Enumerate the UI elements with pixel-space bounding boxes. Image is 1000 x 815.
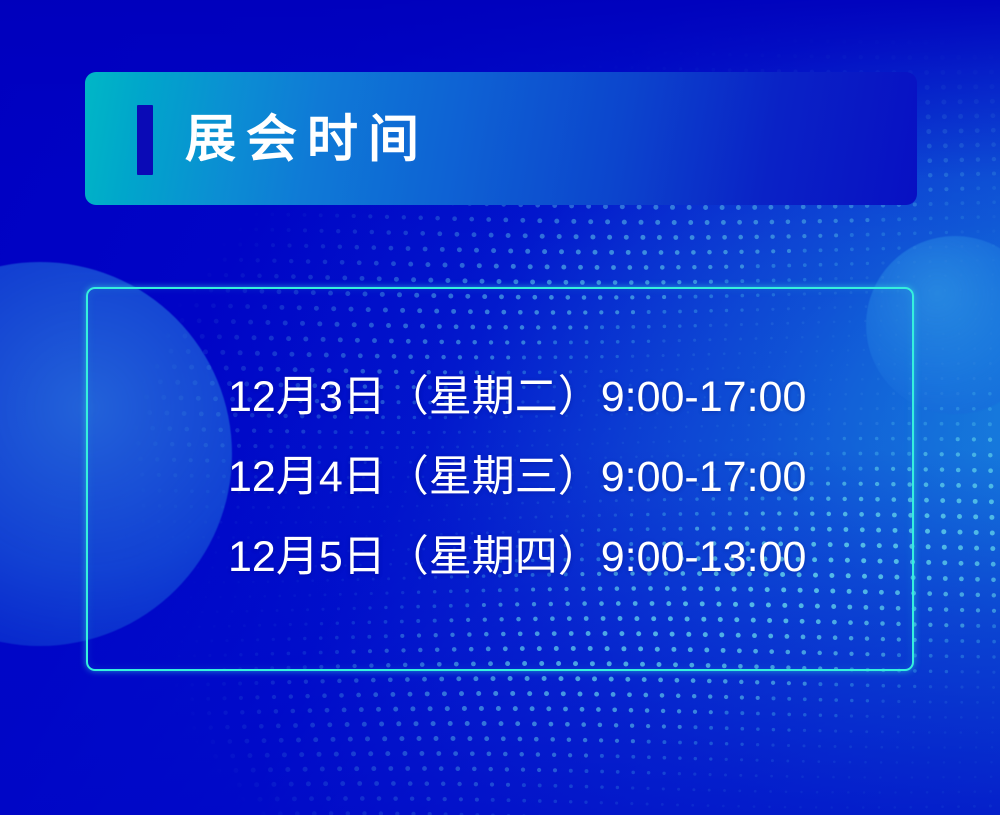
schedule-list: 12月3日（星期二）9:00-17:00 12月4日（星期三）9:00-17:0…	[228, 357, 806, 597]
section-header-bar: 展会时间	[85, 72, 917, 205]
page-title: 展会时间	[185, 113, 429, 164]
title-accent-bar	[137, 105, 153, 175]
poster-canvas: 展会时间 12月3日（星期二）9:00-17:00 12月4日（星期三）9:00…	[0, 0, 1000, 815]
schedule-line-2: 12月4日（星期三）9:00-17:00	[228, 437, 806, 517]
schedule-frame: 12月3日（星期二）9:00-17:00 12月4日（星期三）9:00-17:0…	[86, 287, 914, 671]
schedule-line-3: 12月5日（星期四）9:00-13:00	[228, 517, 806, 597]
schedule-line-1: 12月3日（星期二）9:00-17:00	[228, 357, 806, 437]
